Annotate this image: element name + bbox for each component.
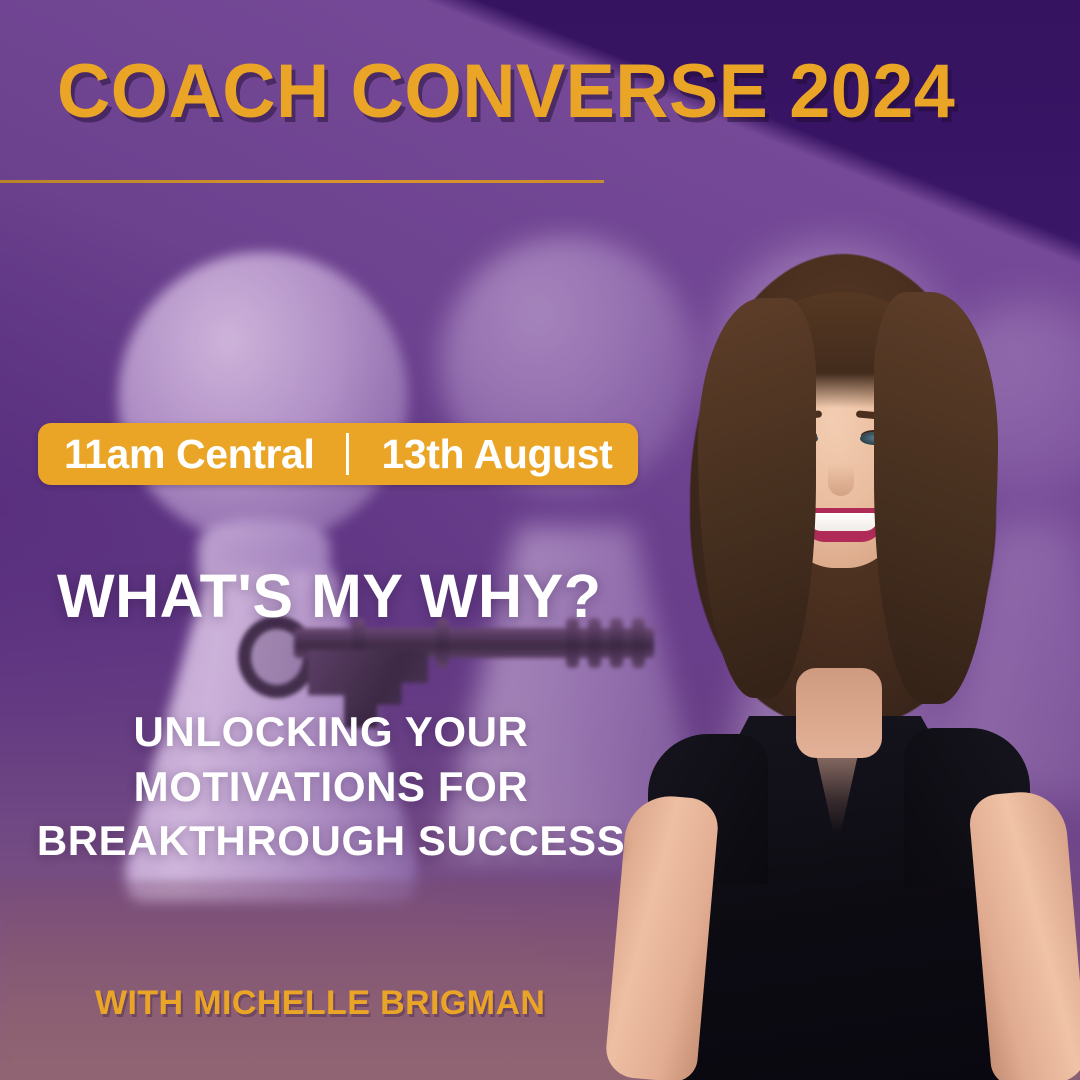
hair-wave-right <box>874 292 998 704</box>
promo-poster: COACH CONVERSE 2024 11am Central 13th Au… <box>0 0 1080 1080</box>
badge-separator <box>346 433 349 475</box>
presenter-credit: WITH MICHELLE BRIGMAN <box>95 986 545 1020</box>
subheadline-line-3: BREAKTHROUGH SUCCESS <box>0 814 662 869</box>
subheadline-line-2: MOTIVATIONS FOR <box>0 760 662 815</box>
badge-date: 13th August <box>381 434 612 475</box>
pawn-head <box>118 252 408 544</box>
nose <box>828 464 854 496</box>
badge-time: 11am Central <box>64 434 314 475</box>
headline: WHAT'S MY WHY? <box>57 566 601 627</box>
neck <box>796 668 882 758</box>
title-block: COACH CONVERSE 2024 <box>57 56 1080 129</box>
datetime-badge: 11am Central 13th August <box>38 423 638 485</box>
subheadline: UNLOCKING YOUR MOTIVATIONS FOR BREAKTHRO… <box>0 705 662 869</box>
subheadline-line-1: UNLOCKING YOUR <box>0 705 662 760</box>
page-title: COACH CONVERSE 2024 <box>57 56 1049 129</box>
presenter-photo <box>612 236 1080 1080</box>
title-divider-rule <box>0 180 604 183</box>
teeth <box>808 513 878 531</box>
